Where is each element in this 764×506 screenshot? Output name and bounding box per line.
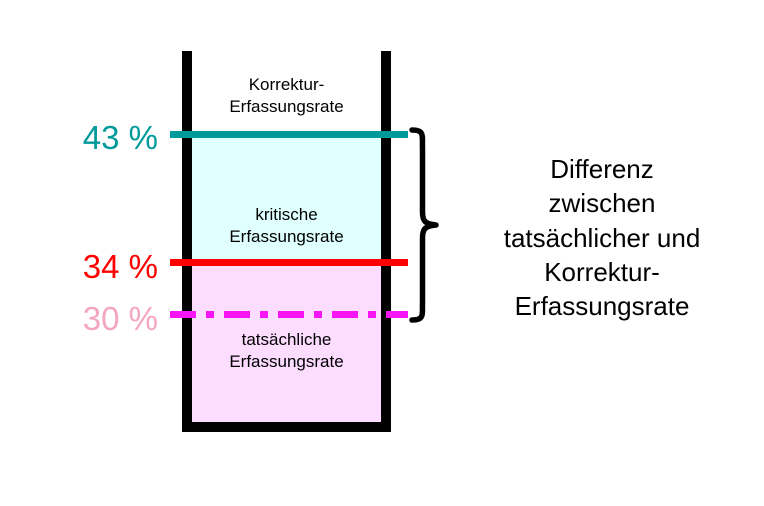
beaker-wall-left <box>182 51 192 432</box>
level-line-43 <box>170 131 408 138</box>
difference-caption-line4: Korrektur- <box>452 255 752 289</box>
diagram-canvas: Korrektur- Erfassungsrate kritische Erfa… <box>0 0 764 506</box>
difference-caption-line1: Differenz <box>452 152 752 186</box>
segment-label-korrektur-line1: Korrektur- <box>192 74 381 96</box>
level-label-30: 30 % <box>48 302 158 335</box>
beaker-wall-right <box>381 51 391 432</box>
beaker-wall-bottom <box>182 422 391 432</box>
difference-caption-line5: Erfassungsrate <box>452 289 752 323</box>
segment-label-tatsaechlich-line1: tatsächliche <box>192 329 381 351</box>
level-label-43: 43 % <box>48 121 158 154</box>
segment-label-tatsaechlich-line2: Erfassungsrate <box>192 351 381 373</box>
segment-label-kritisch-line1: kritische <box>192 204 381 226</box>
segment-label-kritisch-line2: Erfassungsrate <box>192 226 381 248</box>
curly-brace-right-icon <box>406 126 442 324</box>
difference-caption-line3: tatsächlicher und <box>452 221 752 255</box>
segment-label-korrektur-line2: Erfassungsrate <box>192 96 381 118</box>
level-label-34: 34 % <box>48 250 158 283</box>
segment-label-kritisch: kritische Erfassungsrate <box>192 204 381 248</box>
segment-label-tatsaechlich: tatsächliche Erfassungsrate <box>192 329 381 373</box>
difference-caption: Differenz zwischen tatsächlicher und Kor… <box>452 152 752 324</box>
segment-label-korrektur: Korrektur- Erfassungsrate <box>192 74 381 118</box>
difference-caption-line2: zwischen <box>452 186 752 220</box>
level-line-30 <box>170 311 408 318</box>
level-line-34 <box>170 259 408 266</box>
